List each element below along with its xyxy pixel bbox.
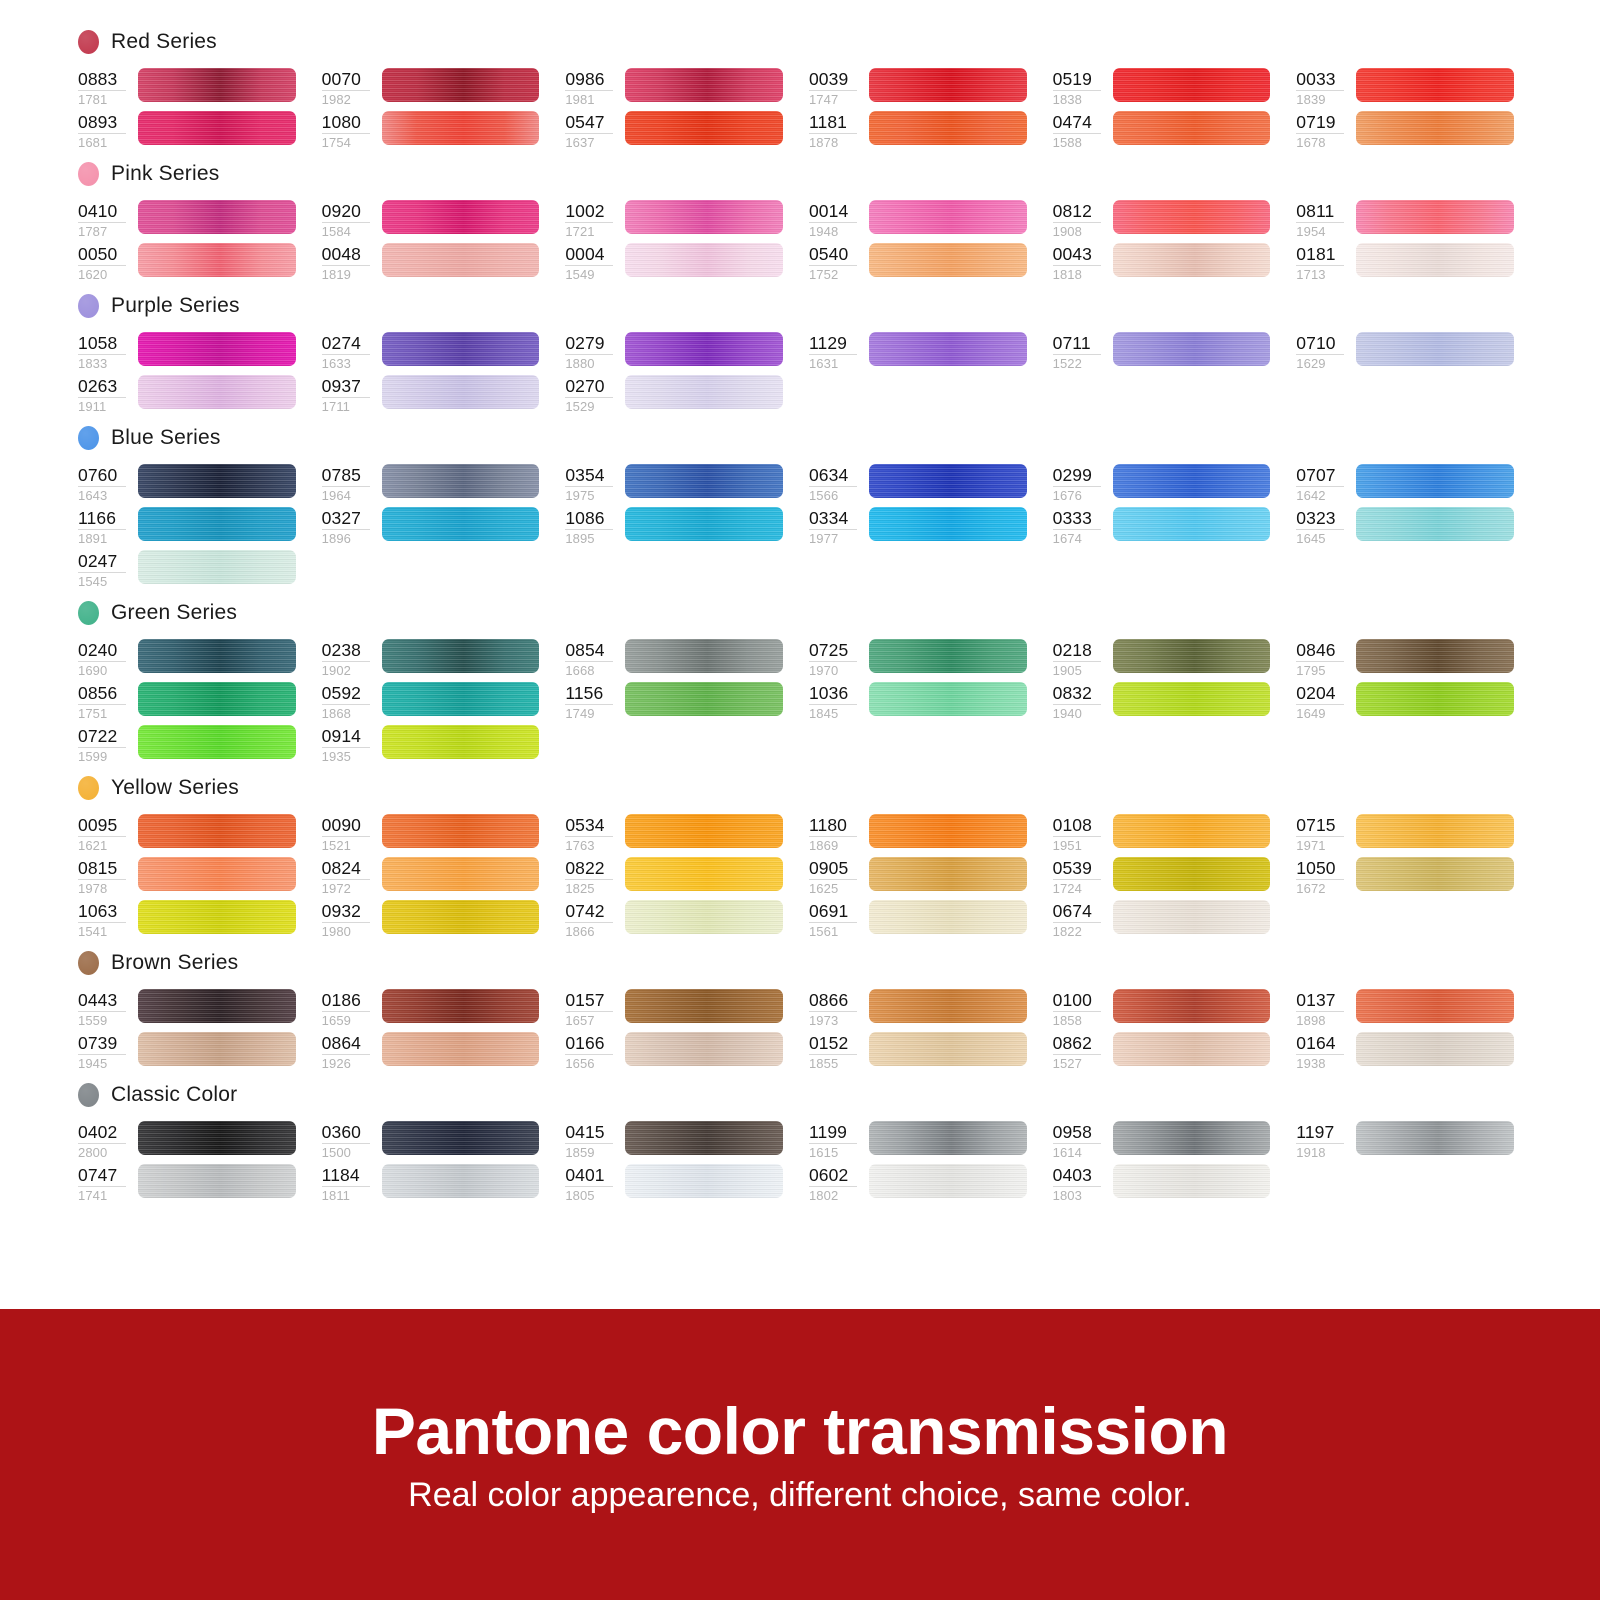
swatch-labels: 02181905 xyxy=(1053,639,1105,679)
color-swatch[interactable] xyxy=(1113,857,1271,891)
color-swatch[interactable] xyxy=(1113,332,1271,366)
swatch-item[interactable]: 03331674 xyxy=(1053,507,1297,550)
color-swatch[interactable] xyxy=(625,639,783,673)
swatch-subcode: 1754 xyxy=(322,134,374,151)
swatch-item[interactable]: 10801754 xyxy=(322,111,566,154)
color-swatch[interactable] xyxy=(625,814,783,848)
swatch-labels: 10021721 xyxy=(565,200,617,240)
swatch-item[interactable]: 02631911 xyxy=(78,375,322,418)
swatch-column: 0725197010361845 xyxy=(809,639,1053,768)
swatch-item[interactable]: 03341977 xyxy=(809,507,1053,550)
swatch-item[interactable]: 11971918 xyxy=(1296,1121,1540,1164)
swatch-code: 0474 xyxy=(1053,112,1101,134)
swatch-code: 0864 xyxy=(322,1033,370,1055)
color-swatch[interactable] xyxy=(382,814,540,848)
color-swatch[interactable] xyxy=(1356,857,1514,891)
swatch-subcode: 1905 xyxy=(1053,662,1105,679)
swatch-code: 0401 xyxy=(565,1165,613,1187)
swatch-item[interactable]: 02791880 xyxy=(565,332,809,375)
color-swatch[interactable] xyxy=(382,375,540,409)
color-swatch[interactable] xyxy=(1113,1121,1271,1155)
color-swatch[interactable] xyxy=(138,375,296,409)
color-swatch[interactable] xyxy=(1113,507,1271,541)
swatch-item[interactable]: 04022800 xyxy=(78,1121,322,1164)
color-swatch[interactable] xyxy=(138,1032,296,1066)
color-swatch[interactable] xyxy=(382,682,540,716)
swatch-item[interactable]: 08931681 xyxy=(78,111,322,154)
color-swatch[interactable] xyxy=(1113,639,1271,673)
banner-subtitle: Real color appearence, different choice,… xyxy=(408,1478,1192,1512)
swatch-item[interactable]: 04431559 xyxy=(78,989,322,1032)
color-swatch[interactable] xyxy=(138,111,296,145)
swatch-item[interactable]: 06341566 xyxy=(809,464,1053,507)
swatch-subcode: 1926 xyxy=(322,1055,374,1072)
swatch-item[interactable]: 10021721 xyxy=(565,200,809,243)
color-swatch[interactable] xyxy=(138,639,296,673)
color-swatch[interactable] xyxy=(1356,111,1514,145)
color-swatch[interactable] xyxy=(869,900,1027,934)
swatch-item[interactable]: 05341763 xyxy=(565,814,809,857)
swatch-item[interactable]: 07251970 xyxy=(809,639,1053,682)
color-swatch[interactable] xyxy=(625,1121,783,1155)
swatch-item[interactable]: 07191678 xyxy=(1296,111,1540,154)
color-swatch[interactable] xyxy=(382,1032,540,1066)
swatch-labels: 01861659 xyxy=(322,989,374,1029)
color-swatch[interactable] xyxy=(1356,1032,1514,1066)
color-swatch[interactable] xyxy=(625,682,783,716)
swatch-code: 0715 xyxy=(1296,815,1344,837)
swatch-item[interactable]: 08461795 xyxy=(1296,639,1540,682)
series-header: Red Series xyxy=(78,22,1540,62)
swatch-subcode: 1918 xyxy=(1296,1144,1348,1161)
swatch-item[interactable]: 09861981 xyxy=(565,68,809,111)
swatch-subcode: 1674 xyxy=(1053,530,1105,547)
swatch-labels: 02741633 xyxy=(322,332,374,372)
color-swatch[interactable] xyxy=(382,200,540,234)
swatch-item[interactable]: 11841811 xyxy=(322,1164,566,1207)
swatch-subcode: 1672 xyxy=(1296,880,1348,897)
swatch-labels: 11841811 xyxy=(322,1164,374,1204)
color-swatch[interactable] xyxy=(625,68,783,102)
color-swatch[interactable] xyxy=(1356,1121,1514,1155)
swatch-item[interactable]: 05391724 xyxy=(1053,857,1297,900)
swatch-item[interactable]: 00431818 xyxy=(1053,243,1297,286)
color-swatch[interactable] xyxy=(869,857,1027,891)
swatch-subcode: 1529 xyxy=(565,398,617,415)
swatch-code: 0014 xyxy=(809,201,857,223)
swatch-labels: 11991615 xyxy=(809,1121,861,1161)
swatch-code: 0883 xyxy=(78,69,126,91)
swatch-labels: 02041649 xyxy=(1296,682,1348,722)
swatch-item[interactable]: 00481819 xyxy=(322,243,566,286)
swatch-item[interactable]: 09581614 xyxy=(1053,1121,1297,1164)
swatch-item[interactable]: 05401752 xyxy=(809,243,1053,286)
swatch-item[interactable]: 01371898 xyxy=(1296,989,1540,1032)
color-swatch[interactable] xyxy=(382,68,540,102)
swatch-subcode: 1615 xyxy=(809,1144,861,1161)
color-swatch[interactable] xyxy=(382,464,540,498)
series-title: Yellow Series xyxy=(111,776,239,800)
color-swatch[interactable] xyxy=(1113,111,1271,145)
swatch-code: 0540 xyxy=(809,244,857,266)
swatch-item[interactable]: 03541975 xyxy=(565,464,809,507)
series-header: Blue Series xyxy=(78,418,1540,458)
color-swatch[interactable] xyxy=(625,243,783,277)
swatch-item[interactable]: 01521855 xyxy=(809,1032,1053,1075)
swatch-item[interactable]: 08111954 xyxy=(1296,200,1540,243)
swatch-code: 1063 xyxy=(78,901,126,923)
color-swatch[interactable] xyxy=(869,1032,1027,1066)
swatch-item[interactable]: 07221599 xyxy=(78,725,322,768)
swatch-subcode: 1911 xyxy=(78,398,130,415)
swatch-item[interactable]: 01811713 xyxy=(1296,243,1540,286)
swatch-item[interactable]: 00901521 xyxy=(322,814,566,857)
swatch-code: 0634 xyxy=(809,465,857,487)
swatch-item[interactable]: 10581833 xyxy=(78,332,322,375)
swatch-code: 1002 xyxy=(565,201,613,223)
swatch-item[interactable]: 09051625 xyxy=(809,857,1053,900)
swatch-item[interactable]: 08831781 xyxy=(78,68,322,111)
color-swatch[interactable] xyxy=(1356,68,1514,102)
color-swatch[interactable] xyxy=(138,682,296,716)
swatch-labels: 11971918 xyxy=(1296,1121,1348,1161)
swatch-code: 0274 xyxy=(322,333,370,355)
color-swatch[interactable] xyxy=(382,989,540,1023)
color-swatch[interactable] xyxy=(1113,200,1271,234)
swatch-code: 0402 xyxy=(78,1122,126,1144)
swatch-item[interactable]: 02381902 xyxy=(322,639,566,682)
swatch-item[interactable]: 07071642 xyxy=(1296,464,1540,507)
swatch-item[interactable]: 02181905 xyxy=(1053,639,1297,682)
swatch-subcode: 1880 xyxy=(565,355,617,372)
swatch-subcode: 1781 xyxy=(78,91,130,108)
swatch-code: 0164 xyxy=(1296,1033,1344,1055)
swatch-labels: 06021802 xyxy=(809,1164,861,1204)
swatch-item[interactable]: 01001858 xyxy=(1053,989,1297,1032)
swatch-item[interactable]: 08641926 xyxy=(322,1032,566,1075)
series-color-dot-icon xyxy=(78,951,99,975)
swatch-code: 0327 xyxy=(322,508,370,530)
swatch-column: 0986198105471637 xyxy=(565,68,809,154)
swatch-labels: 08661973 xyxy=(809,989,861,1029)
color-swatch[interactable] xyxy=(625,111,783,145)
swatch-labels: 01811713 xyxy=(1296,243,1348,283)
color-swatch[interactable] xyxy=(625,332,783,366)
swatch-code: 0519 xyxy=(1053,69,1101,91)
color-swatch[interactable] xyxy=(382,332,540,366)
color-swatch[interactable] xyxy=(138,550,296,584)
color-swatch[interactable] xyxy=(625,200,783,234)
series-header: Green Series xyxy=(78,593,1540,633)
swatch-code: 0360 xyxy=(322,1122,370,1144)
swatch-item[interactable]: 10631541 xyxy=(78,900,322,943)
swatch-item[interactable]: 04741588 xyxy=(1053,111,1297,154)
color-swatch[interactable] xyxy=(382,1121,540,1155)
swatch-item[interactable]: 00041549 xyxy=(565,243,809,286)
swatch-subcode: 1676 xyxy=(1053,487,1105,504)
color-swatch[interactable] xyxy=(1113,68,1271,102)
color-swatch[interactable] xyxy=(1113,814,1271,848)
swatch-item[interactable]: 09141935 xyxy=(322,725,566,768)
color-swatch[interactable] xyxy=(625,464,783,498)
color-swatch[interactable] xyxy=(869,507,1027,541)
color-swatch[interactable] xyxy=(1356,989,1514,1023)
color-swatch[interactable] xyxy=(138,200,296,234)
series-title: Green Series xyxy=(111,601,237,625)
swatch-item[interactable]: 06911561 xyxy=(809,900,1053,943)
color-swatch[interactable] xyxy=(869,200,1027,234)
series-section: Red Series088317810893168100701982108017… xyxy=(78,22,1540,154)
swatch-column: 0218190508321940 xyxy=(1053,639,1297,768)
swatch-subcode: 1977 xyxy=(809,530,861,547)
swatch-item[interactable]: 02991676 xyxy=(1053,464,1297,507)
swatch-code: 0674 xyxy=(1053,901,1101,923)
swatch-subcode: 1838 xyxy=(1053,91,1105,108)
color-swatch[interactable] xyxy=(625,1032,783,1066)
swatch-code: 0095 xyxy=(78,815,126,837)
swatch-item[interactable]: 11991615 xyxy=(809,1121,1053,1164)
color-swatch[interactable] xyxy=(869,989,1027,1023)
swatch-labels: 01641938 xyxy=(1296,1032,1348,1072)
swatch-column: 009015210824197209321980 xyxy=(322,814,566,943)
color-swatch[interactable] xyxy=(625,989,783,1023)
color-swatch[interactable] xyxy=(1356,464,1514,498)
swatch-labels: 02701529 xyxy=(565,375,617,415)
color-swatch[interactable] xyxy=(1113,900,1271,934)
swatch-labels: 03601500 xyxy=(322,1121,374,1161)
color-swatch[interactable] xyxy=(382,243,540,277)
swatch-item[interactable]: 07391945 xyxy=(78,1032,322,1075)
swatch-item[interactable]: 01571657 xyxy=(565,989,809,1032)
color-swatch[interactable] xyxy=(1356,814,1514,848)
color-swatch[interactable] xyxy=(1356,200,1514,234)
swatch-item[interactable]: 09201584 xyxy=(322,200,566,243)
swatch-item[interactable]: 02401690 xyxy=(78,639,322,682)
color-swatch[interactable] xyxy=(138,989,296,1023)
swatch-item[interactable]: 00501620 xyxy=(78,243,322,286)
swatch-item[interactable]: 08221825 xyxy=(565,857,809,900)
swatch-code: 0846 xyxy=(1296,640,1344,662)
color-swatch[interactable] xyxy=(869,1121,1027,1155)
swatch-labels: 06911561 xyxy=(809,900,861,940)
swatch-column: 0707164203231645 xyxy=(1296,464,1540,593)
color-swatch[interactable] xyxy=(1356,332,1514,366)
swatch-code: 0854 xyxy=(565,640,613,662)
swatch-item[interactable]: 06741822 xyxy=(1053,900,1297,943)
swatch-item[interactable]: 11811878 xyxy=(809,111,1053,154)
color-swatch[interactable] xyxy=(382,111,540,145)
swatch-subcode: 1825 xyxy=(565,880,617,897)
swatch-item[interactable]: 11801869 xyxy=(809,814,1053,857)
swatch-labels: 04101787 xyxy=(78,200,130,240)
color-swatch[interactable] xyxy=(382,725,540,759)
series-color-dot-icon xyxy=(78,294,99,318)
color-swatch[interactable] xyxy=(138,1121,296,1155)
color-swatch[interactable] xyxy=(1113,682,1271,716)
swatch-item[interactable]: 00391747 xyxy=(809,68,1053,111)
series-color-dot-icon xyxy=(78,776,99,800)
series-header: Pink Series xyxy=(78,154,1540,194)
swatch-item[interactable]: 08121908 xyxy=(1053,200,1297,243)
color-swatch[interactable] xyxy=(869,1164,1027,1198)
swatch-code: 0547 xyxy=(565,112,613,134)
swatch-item[interactable]: 07101629 xyxy=(1296,332,1540,375)
swatch-item[interactable]: 03271896 xyxy=(322,507,566,550)
swatch-item[interactable]: 03601500 xyxy=(322,1121,566,1164)
swatch-code: 0039 xyxy=(809,69,857,91)
swatch-subcode: 1805 xyxy=(565,1187,617,1204)
swatch-item[interactable]: 00951621 xyxy=(78,814,322,857)
swatch-subcode: 1545 xyxy=(78,573,130,590)
swatch-item[interactable]: 11661891 xyxy=(78,507,322,550)
color-swatch[interactable] xyxy=(869,814,1027,848)
swatch-subcode: 1724 xyxy=(1053,880,1105,897)
swatch-subcode: 1645 xyxy=(1296,530,1348,547)
swatch-item[interactable]: 05921868 xyxy=(322,682,566,725)
color-swatch[interactable] xyxy=(625,900,783,934)
color-swatch[interactable] xyxy=(625,375,783,409)
swatch-subcode: 1895 xyxy=(565,530,617,547)
color-swatch[interactable] xyxy=(869,682,1027,716)
swatch-labels: 11291631 xyxy=(809,332,861,372)
swatch-labels: 01521855 xyxy=(809,1032,861,1072)
color-swatch[interactable] xyxy=(869,68,1027,102)
swatch-grid: 0760164311661891024715450785196403271896… xyxy=(78,464,1540,593)
swatch-item[interactable]: 00701982 xyxy=(322,68,566,111)
swatch-item[interactable]: 02701529 xyxy=(565,375,809,418)
swatch-item[interactable]: 08541668 xyxy=(565,639,809,682)
swatch-item[interactable]: 04151859 xyxy=(565,1121,809,1164)
color-swatch[interactable] xyxy=(382,1164,540,1198)
color-swatch[interactable] xyxy=(869,332,1027,366)
swatch-item[interactable]: 11561749 xyxy=(565,682,809,725)
swatch-item[interactable]: 01661656 xyxy=(565,1032,809,1075)
color-swatch[interactable] xyxy=(625,1164,783,1198)
color-swatch[interactable] xyxy=(1113,1032,1271,1066)
swatch-placeholder xyxy=(1296,375,1540,418)
swatch-placeholder xyxy=(809,725,1053,768)
swatch-item[interactable]: 04031803 xyxy=(1053,1164,1297,1207)
swatch-item[interactable]: 10861895 xyxy=(565,507,809,550)
color-swatch[interactable] xyxy=(138,857,296,891)
swatch-item[interactable]: 00331839 xyxy=(1296,68,1540,111)
series-list: Red Series088317810893168100701982108017… xyxy=(0,0,1600,1207)
swatch-item[interactable]: 00141948 xyxy=(809,200,1053,243)
color-swatch[interactable] xyxy=(1356,507,1514,541)
color-swatch[interactable] xyxy=(138,68,296,102)
color-swatch[interactable] xyxy=(138,1164,296,1198)
swatch-code: 0048 xyxy=(322,244,370,266)
color-swatch[interactable] xyxy=(138,900,296,934)
swatch-column: 0402280007471741 xyxy=(78,1121,322,1207)
swatch-item[interactable]: 07421866 xyxy=(565,900,809,943)
swatch-item[interactable]: 07601643 xyxy=(78,464,322,507)
swatch-item[interactable]: 11291631 xyxy=(809,332,1053,375)
color-swatch[interactable] xyxy=(138,243,296,277)
color-swatch[interactable] xyxy=(382,900,540,934)
swatch-item[interactable]: 04101787 xyxy=(78,200,322,243)
swatch-item[interactable]: 01641938 xyxy=(1296,1032,1540,1075)
swatch-item[interactable]: 03231645 xyxy=(1296,507,1540,550)
swatch-code: 0905 xyxy=(809,858,857,880)
swatch-item[interactable]: 10501672 xyxy=(1296,857,1540,900)
color-swatch[interactable] xyxy=(1113,989,1271,1023)
swatch-placeholder xyxy=(322,550,566,593)
swatch-grid: 0240169008561751072215990238190205921868… xyxy=(78,639,1540,768)
swatch-item[interactable]: 02471545 xyxy=(78,550,322,593)
color-swatch[interactable] xyxy=(138,814,296,848)
swatch-item[interactable]: 01081951 xyxy=(1053,814,1297,857)
swatch-code: 0920 xyxy=(322,201,370,223)
swatch-labels: 08541668 xyxy=(565,639,617,679)
color-swatch[interactable] xyxy=(382,857,540,891)
swatch-item[interactable]: 08241972 xyxy=(322,857,566,900)
swatch-item[interactable]: 04011805 xyxy=(565,1164,809,1207)
color-swatch[interactable] xyxy=(625,857,783,891)
swatch-item[interactable]: 08151978 xyxy=(78,857,322,900)
swatch-column: 1199161506021802 xyxy=(809,1121,1053,1207)
swatch-labels: 09321980 xyxy=(322,900,374,940)
color-swatch[interactable] xyxy=(1356,639,1514,673)
swatch-item[interactable]: 08621527 xyxy=(1053,1032,1297,1075)
series-header: Classic Color xyxy=(78,1075,1540,1115)
color-swatch[interactable] xyxy=(869,464,1027,498)
color-swatch[interactable] xyxy=(625,507,783,541)
swatch-item[interactable]: 06021802 xyxy=(809,1164,1053,1207)
swatch-labels: 08621527 xyxy=(1053,1032,1105,1072)
swatch-item[interactable]: 08561751 xyxy=(78,682,322,725)
swatch-item[interactable]: 09371711 xyxy=(322,375,566,418)
color-swatch[interactable] xyxy=(1113,243,1271,277)
swatch-item[interactable]: 08661973 xyxy=(809,989,1053,1032)
swatch-item[interactable]: 10361845 xyxy=(809,682,1053,725)
swatch-item[interactable]: 01861659 xyxy=(322,989,566,1032)
swatch-item[interactable]: 02741633 xyxy=(322,332,566,375)
color-swatch[interactable] xyxy=(869,111,1027,145)
swatch-subcode: 1868 xyxy=(322,705,374,722)
color-swatch[interactable] xyxy=(869,639,1027,673)
swatch-code: 0710 xyxy=(1296,333,1344,355)
color-swatch[interactable] xyxy=(1113,1164,1271,1198)
color-swatch[interactable] xyxy=(1356,682,1514,716)
swatch-item[interactable]: 05471637 xyxy=(565,111,809,154)
color-swatch[interactable] xyxy=(1356,243,1514,277)
color-swatch[interactable] xyxy=(138,725,296,759)
swatch-item[interactable]: 09321980 xyxy=(322,900,566,943)
swatch-item[interactable]: 07851964 xyxy=(322,464,566,507)
swatch-column: 023819020592186809141935 xyxy=(322,639,566,768)
swatch-labels: 08561751 xyxy=(78,682,130,722)
swatch-labels: 08931681 xyxy=(78,111,130,151)
series-color-dot-icon xyxy=(78,1083,99,1107)
swatch-item[interactable]: 07111522 xyxy=(1053,332,1297,375)
color-swatch[interactable] xyxy=(382,639,540,673)
color-swatch[interactable] xyxy=(869,243,1027,277)
color-swatch[interactable] xyxy=(138,332,296,366)
swatch-item[interactable]: 02041649 xyxy=(1296,682,1540,725)
swatch-column: 0519183804741588 xyxy=(1053,68,1297,154)
swatch-item[interactable]: 05191838 xyxy=(1053,68,1297,111)
swatch-column: 0100185808621527 xyxy=(1053,989,1297,1075)
color-swatch[interactable] xyxy=(138,507,296,541)
swatch-item[interactable]: 07471741 xyxy=(78,1164,322,1207)
swatch-column: 0014194805401752 xyxy=(809,200,1053,286)
color-swatch[interactable] xyxy=(1113,464,1271,498)
swatch-item[interactable]: 07151971 xyxy=(1296,814,1540,857)
swatch-item[interactable]: 08321940 xyxy=(1053,682,1297,725)
color-swatch[interactable] xyxy=(382,507,540,541)
color-swatch[interactable] xyxy=(138,464,296,498)
